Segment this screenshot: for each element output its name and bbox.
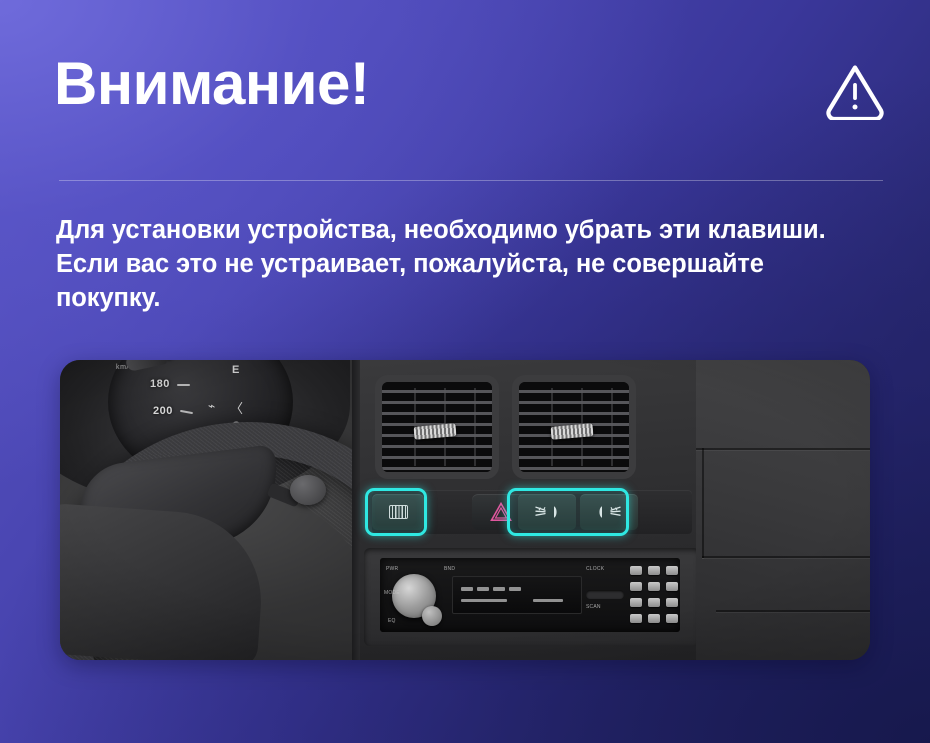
- stereo-label-clock: CLOCK: [586, 566, 604, 572]
- stereo-preset-6[interactable]: [666, 582, 678, 591]
- stereo-label-mode: MODE: [384, 590, 400, 596]
- stereo-display-seg-3: [493, 587, 505, 591]
- cd-slot[interactable]: [586, 590, 624, 599]
- stereo-button-11[interactable]: [648, 614, 660, 623]
- rear-defroster-button-highlight: [365, 488, 427, 536]
- glovebox-seam-bottom: [702, 556, 870, 558]
- stereo-preset-1[interactable]: [630, 566, 642, 575]
- stereo-display-seg-6: [533, 599, 563, 602]
- stereo-button-7[interactable]: [630, 598, 642, 607]
- coolant-temp-icon: ⌁: [208, 400, 215, 412]
- dashboard-lower-seam: [716, 610, 870, 612]
- radio-bezel: PWR MODE BND EQ CLOCK SCAN: [364, 548, 700, 646]
- warning-banner-page: Внимание! Для установки устройства, необ…: [0, 0, 930, 743]
- air-vent-right-divider-3: [611, 388, 613, 466]
- stereo-label-power: PWR: [386, 566, 398, 572]
- warning-triangle-icon: [824, 62, 886, 120]
- stereo-secondary-knob[interactable]: [422, 606, 442, 626]
- stereo-label-scan: SCAN: [586, 604, 601, 610]
- warning-message-line-2: Если вас это не устраивает, пожалуйста, …: [56, 247, 866, 281]
- header-divider: [59, 180, 883, 181]
- stereo-display-seg-2: [477, 587, 489, 591]
- fog-lights-buttons-highlight: [507, 488, 629, 536]
- stereo-preset-5[interactable]: [648, 582, 660, 591]
- stereo-display-seg-5: [461, 599, 507, 602]
- stereo-button-9[interactable]: [666, 598, 678, 607]
- header: Внимание!: [0, 0, 930, 182]
- stereo-button-12[interactable]: [666, 614, 678, 623]
- stereo-display-seg-4: [509, 587, 521, 591]
- temp-gauge-arc: 〈: [230, 402, 243, 415]
- speed-tick-mark-180: [177, 384, 190, 386]
- air-vent-left-divider-3: [474, 388, 476, 466]
- speed-tick-200: 200: [153, 405, 173, 417]
- stereo-label-eq: EQ: [388, 618, 396, 624]
- warning-message-line-3: покупку.: [56, 281, 866, 315]
- glovebox-seam-top: [696, 448, 870, 450]
- stereo-button-10[interactable]: [630, 614, 642, 623]
- stereo-label-band: BND: [444, 566, 455, 572]
- stereo-display: [452, 576, 582, 614]
- speedometer-needle: [125, 360, 167, 372]
- stereo-button-8[interactable]: [648, 598, 660, 607]
- stereo-display-seg-1: [461, 587, 473, 591]
- air-vent-right: [512, 375, 636, 479]
- warning-message: Для установки устройства, необходимо убр…: [56, 213, 866, 315]
- fuel-gauge-empty-label: E: [232, 364, 239, 376]
- stereo-preset-4[interactable]: [630, 582, 642, 591]
- stereo-preset-3[interactable]: [666, 566, 678, 575]
- car-stereo-head-unit[interactable]: PWR MODE BND EQ CLOCK SCAN: [380, 558, 680, 632]
- stereo-preset-2[interactable]: [648, 566, 660, 575]
- speed-tick-mark-200: [180, 410, 193, 414]
- passenger-dashboard: [696, 360, 870, 660]
- car-dashboard-photo: km/h 140 160 180 200 〈 E 〈 C ⌁: [60, 360, 870, 660]
- speed-tick-180: 180: [150, 378, 170, 390]
- air-vent-left: [375, 375, 499, 479]
- ignition-switch-knob: [290, 475, 326, 505]
- warning-message-line-1: Для установки устройства, необходимо убр…: [56, 213, 866, 247]
- glovebox-seam-left: [702, 448, 704, 558]
- page-title: Внимание!: [54, 54, 369, 114]
